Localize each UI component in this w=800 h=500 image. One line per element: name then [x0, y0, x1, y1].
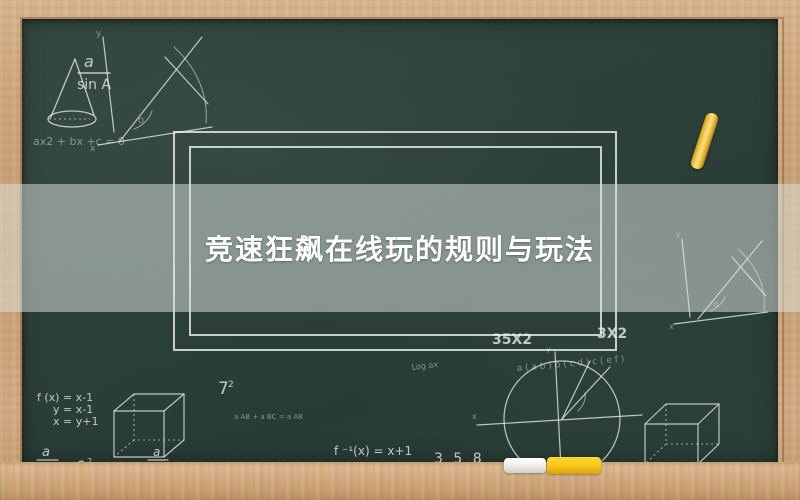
screenshot-root: a sin A ax2 + bx +c = 0 y x o [0, 0, 800, 500]
page-title: 竞速狂飙在线玩的规则与玩法 [205, 228, 595, 268]
inverse-function-formula: f ⁻¹(x) = x+1 [334, 444, 412, 458]
svg-text:x: x [669, 322, 674, 331]
svg-text:2: 2 [228, 380, 234, 390]
segment-addition: a AB + a BC = a AB [234, 413, 303, 421]
law-of-sines-bottom-middle: a sin A [146, 445, 171, 462]
svg-text:3 5 8: 3 5 8 [434, 451, 485, 462]
arithmetic-addition: 3 5 8 2 7 9 6 3 7 [432, 451, 485, 462]
seven-squared: 7 2 [218, 379, 234, 399]
function-equations: f (x) = x-1 y = x-1 x = y+1 [37, 391, 98, 428]
svg-text:a: a [42, 445, 50, 460]
svg-text:x: x [90, 144, 96, 154]
svg-text:a: a [153, 445, 160, 459]
svg-text:x: x [472, 412, 477, 421]
svg-text:y: y [96, 29, 102, 39]
cube-diagram-right [645, 404, 719, 462]
svg-text:sin A: sin A [77, 77, 112, 93]
svg-text:x = y+1: x = y+1 [53, 415, 98, 428]
yellow-chalk-piece [547, 457, 601, 474]
matrix-row: a ( a b ) b ( c d ) c ( e f ) [516, 355, 624, 374]
chalk-ledge [0, 462, 800, 500]
white-chalk-piece [504, 458, 546, 473]
log-ax-label: Log ax [411, 360, 439, 372]
title-overlay-band: 竞速狂飙在线玩的规则与玩法 [0, 184, 800, 312]
svg-text:o: o [138, 115, 144, 126]
law-of-sines-left: a sin A [77, 52, 112, 93]
svg-text:a: a [84, 52, 94, 71]
cube-diagram-left [114, 394, 184, 457]
law-of-sines-bottom-left: a sin A [35, 445, 62, 462]
quadratic-formula: ax2 + bx +c = 0 [33, 135, 125, 148]
